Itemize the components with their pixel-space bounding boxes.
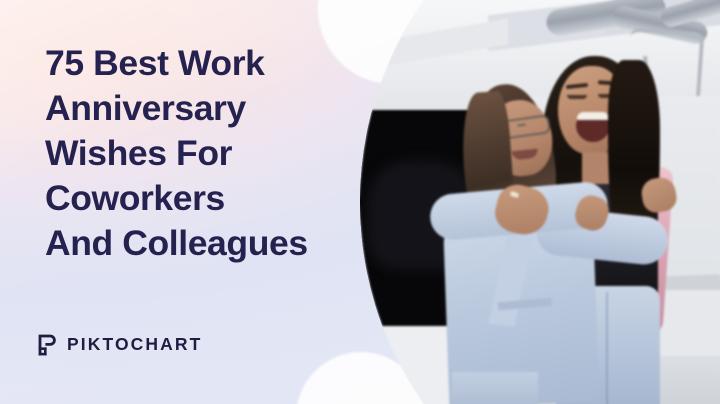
photo-woman-b-teeth xyxy=(577,112,609,120)
piktochart-blog-hero-card: 75 Best Work Anniversary Wishes For Cowo… xyxy=(0,0,720,404)
photo-woman-b-eye xyxy=(567,95,587,99)
piktochart-wordmark: PIKTOCHART xyxy=(67,336,202,354)
hero-content: 75 Best Work Anniversary Wishes For Cowo… xyxy=(0,0,360,404)
hero-photo-panel xyxy=(360,0,720,404)
piktochart-logo[interactable]: PIKTOCHART xyxy=(37,333,202,357)
piktochart-p-mark-icon xyxy=(37,333,58,357)
page-title: 75 Best Work Anniversary Wishes For Cowo… xyxy=(45,41,355,266)
hero-photo-circle-mask xyxy=(360,0,720,404)
hero-photo xyxy=(360,0,720,404)
photo-woman-b-jeans-seam xyxy=(606,292,608,404)
photo-woman-a-trousers xyxy=(452,372,538,404)
